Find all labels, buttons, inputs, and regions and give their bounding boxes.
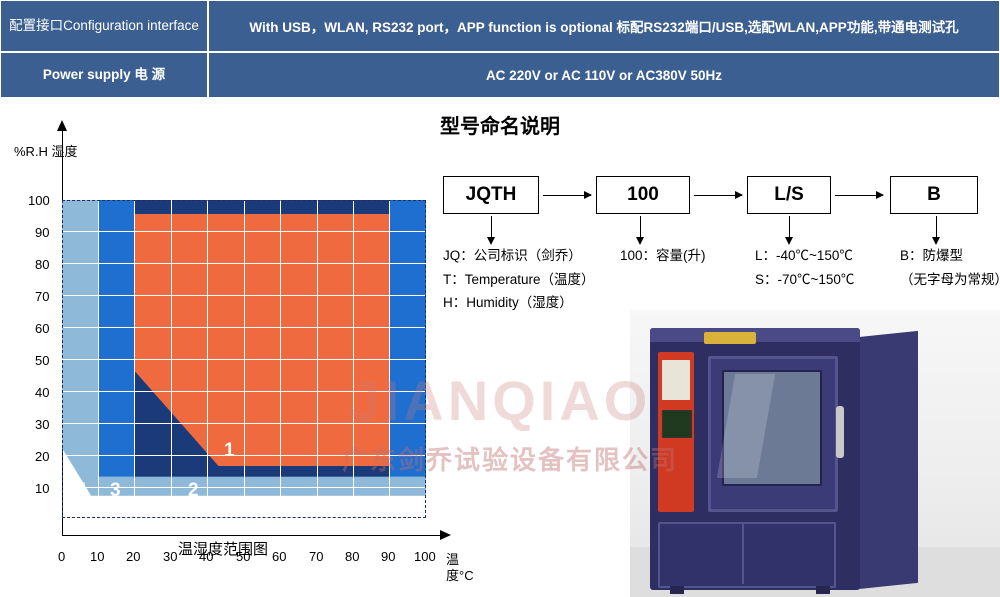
naming-box-series: JQTH [443, 176, 539, 214]
x-tick-label: 90 [381, 549, 395, 564]
y-tick-label: 60 [35, 321, 49, 336]
chamber-side-panel [858, 331, 918, 589]
temperature-humidity-chart: %R.H 湿度 温度°C [0, 108, 470, 597]
cabinet-divider [742, 522, 744, 584]
naming-legend-type: B：防爆型 （无字母为常规） [900, 244, 1000, 291]
naming-box-type: B [890, 176, 978, 214]
chamber-lower-cabinet [658, 522, 836, 588]
spec-label-configuration-interface: 配置接口Configuration interface [0, 0, 208, 52]
spec-value-power-supply: AC 220V or AC 110V or AC380V 50Hz [208, 52, 1000, 98]
control-panel-screen [662, 410, 692, 438]
flow-arrow-icon [835, 195, 883, 196]
y-axis-arrow-icon [57, 120, 67, 131]
x-tick-label: 100 [414, 549, 436, 564]
zone-1-label: 1 [224, 440, 235, 462]
plot-border [62, 200, 426, 518]
naming-legend-range: L：-40℃~150℃ S：-70℃~150℃ [755, 244, 854, 291]
chart-title: 温湿度范围图 [178, 538, 268, 559]
down-arrow-icon [491, 216, 492, 238]
legend-line: 100：容量(升) [620, 244, 706, 268]
legend-line: S：-70℃~150℃ [755, 268, 854, 292]
legend-line: （无字母为常规） [900, 268, 1000, 292]
x-tick-label: 60 [272, 549, 286, 564]
zone-2-label: 2 [188, 480, 199, 502]
table-row: Power supply 电 源 AC 220V or AC 110V or A… [0, 52, 1000, 98]
x-axis-arrow-icon [440, 530, 451, 540]
down-arrow-icon [936, 216, 937, 238]
legend-line: JQ：公司标识（剑乔） [443, 244, 595, 268]
legend-line: B：防爆型 [900, 244, 1000, 268]
naming-box-capacity: 100 [596, 176, 690, 214]
down-arrow-icon [789, 216, 790, 238]
spec-label-power-supply: Power supply 电 源 [0, 52, 208, 98]
flow-arrow-icon [694, 195, 742, 196]
spec-value-configuration-interface: With USB，WLAN, RS232 port，APP function i… [208, 0, 1000, 52]
legend-line: T：Temperature（温度） [443, 268, 595, 292]
y-tick-label: 10 [35, 481, 49, 496]
control-panel-label [662, 360, 690, 400]
door-handle [836, 406, 844, 458]
x-axis-line [62, 535, 440, 536]
flow-arrow-icon [543, 195, 591, 196]
y-tick-label: 40 [35, 385, 49, 400]
y-tick-label: 100 [28, 193, 50, 208]
y-tick-label: 30 [35, 417, 49, 432]
naming-title: 型号命名说明 [440, 110, 1000, 139]
chart-xlabel: 温度°C [446, 552, 474, 583]
model-naming-flow: JQTH 100 L/S B [443, 176, 993, 216]
x-tick-label: 80 [345, 549, 359, 564]
model-naming-section: 型号命名说明 [440, 110, 1000, 139]
y-tick-label: 50 [35, 353, 49, 368]
chamber-foot [816, 586, 830, 594]
table-row: 配置接口Configuration interface With USB，WLA… [0, 0, 1000, 52]
y-tick-label: 90 [35, 225, 49, 240]
x-tick-label: 30 [163, 549, 177, 564]
chart-ylabel: %R.H 湿度 [14, 144, 78, 160]
chamber-foot [670, 586, 684, 594]
naming-legend-series: JQ：公司标识（剑乔） T：Temperature（温度） H：Humidity… [443, 244, 595, 315]
x-tick-label: 20 [126, 549, 140, 564]
legend-line: H：Humidity（湿度） [443, 291, 595, 315]
x-tick-label: 10 [90, 549, 104, 564]
zone-3-label: 3 [110, 480, 121, 502]
y-tick-label: 20 [35, 449, 49, 464]
y-tick-label: 80 [35, 257, 49, 272]
y-tick-label: 70 [35, 289, 49, 304]
naming-legend-capacity: 100：容量(升) [620, 244, 706, 268]
x-tick-label: 70 [309, 549, 323, 564]
legend-line: L：-40℃~150℃ [755, 244, 854, 268]
product-photo [630, 310, 1000, 597]
x-tick-label: 0 [58, 549, 65, 564]
down-arrow-icon [640, 216, 641, 238]
specification-table: 配置接口Configuration interface With USB，WLA… [0, 0, 1000, 98]
zone-4-label: 4 [76, 480, 87, 502]
chart-plot-area: 1 2 3 4 [62, 200, 426, 518]
naming-box-range: L/S [747, 176, 831, 214]
chamber-top-buttons [704, 332, 756, 344]
